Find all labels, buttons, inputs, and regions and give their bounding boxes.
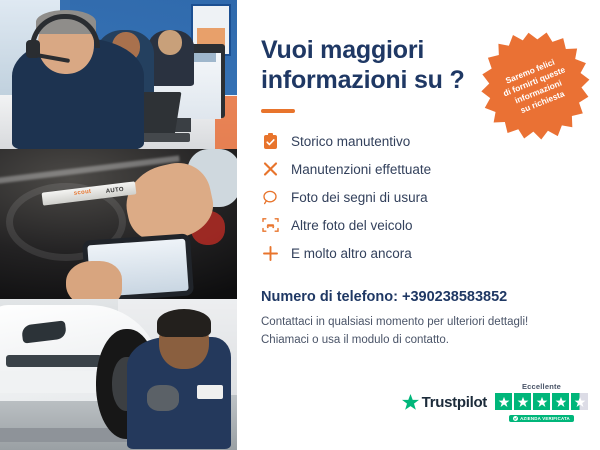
crossed-tools-icon [261,160,279,178]
promo-banner: AUTOscout Vuoi maggiori informazioni [0,0,600,450]
feature-list: Storico manutentivo Manutenzioni effettu… [261,127,582,267]
agent-three-head [158,30,182,55]
title-line-two: informazioni su ? [261,66,465,94]
inspector-hand-holding-tablet [66,261,122,299]
trustpilot-name: Trustpilot [422,394,487,411]
badge-text: Saremo felici di fornirti queste informa… [485,49,589,125]
verified-business-badge: AZIENDA VERIFICATA [509,415,574,422]
trustpilot-widget[interactable]: Trustpilot Eccellente AZIENDA VERIFICATA [402,382,588,422]
feature-label: E molto altro ancora [291,246,412,261]
contact-copy-line-two: Chiamaci o usa il modulo di contatto. [261,332,582,350]
list-item: Manutenzioni effettuate [261,155,582,183]
title-line-one: Vuoi maggiori [261,36,424,64]
clipboard-check-icon [261,132,279,150]
contact-copy-line-one: Contattaci in qualsiasi momento per ulte… [261,314,582,332]
trustpilot-star-icon [402,394,419,411]
star-half [571,393,588,410]
scratch-inspection-photo: AUTOscout [0,149,237,299]
mechanic-logo-patch [197,385,223,399]
list-item: E molto altro ancora [261,239,582,267]
magnifier-icon [261,188,279,206]
trustpilot-logo: Trustpilot [402,382,487,411]
trustpilot-rating-label: Eccellente [522,382,561,391]
star-filled [514,393,531,410]
callout-badge: Saremo felici di fornirti queste informa… [473,23,599,149]
title-divider [261,109,295,113]
phone-line[interactable]: Numero di telefono: +390238583852 [261,289,582,305]
feature-label: Storico manutentivo [291,134,410,149]
feature-label: Manutenzioni effettuate [291,162,431,177]
phone-number[interactable]: +390238583852 [402,289,507,305]
page-title: Vuoi maggiori informazioni su ? [261,36,471,95]
trustpilot-stars [495,393,588,410]
star-filled [495,393,512,410]
trustpilot-rating-block: Eccellente AZIENDA VERIFICATA [495,382,588,422]
contact-copy: Contattaci in qualsiasi momento per ulte… [261,314,582,350]
wheel-inspection-photo [0,299,237,450]
star-filled [552,393,569,410]
star-filled [533,393,550,410]
verified-check-icon [513,416,518,421]
list-item: Altre foto del veicolo [261,211,582,239]
ruler-brand: AUTOscout [74,189,92,197]
monitor-stand [175,118,191,132]
feature-label: Altre foto del veicolo [291,218,413,233]
verified-label: AZIENDA VERIFICATA [520,416,570,421]
mechanic-hair [157,309,211,337]
call-center-agents-photo [0,0,237,149]
content-panel: Vuoi maggiori informazioni su ? Storico … [237,0,600,450]
car-scan-icon [261,216,279,234]
feature-label: Foto dei segni di usura [291,190,428,205]
list-item: Foto dei segni di usura [261,183,582,211]
front-grille [6,355,102,367]
phone-label: Numero di telefono: [261,289,398,305]
mechanic-glove [147,385,179,411]
photo-column: AUTOscout [0,0,237,450]
plus-icon [261,244,279,262]
